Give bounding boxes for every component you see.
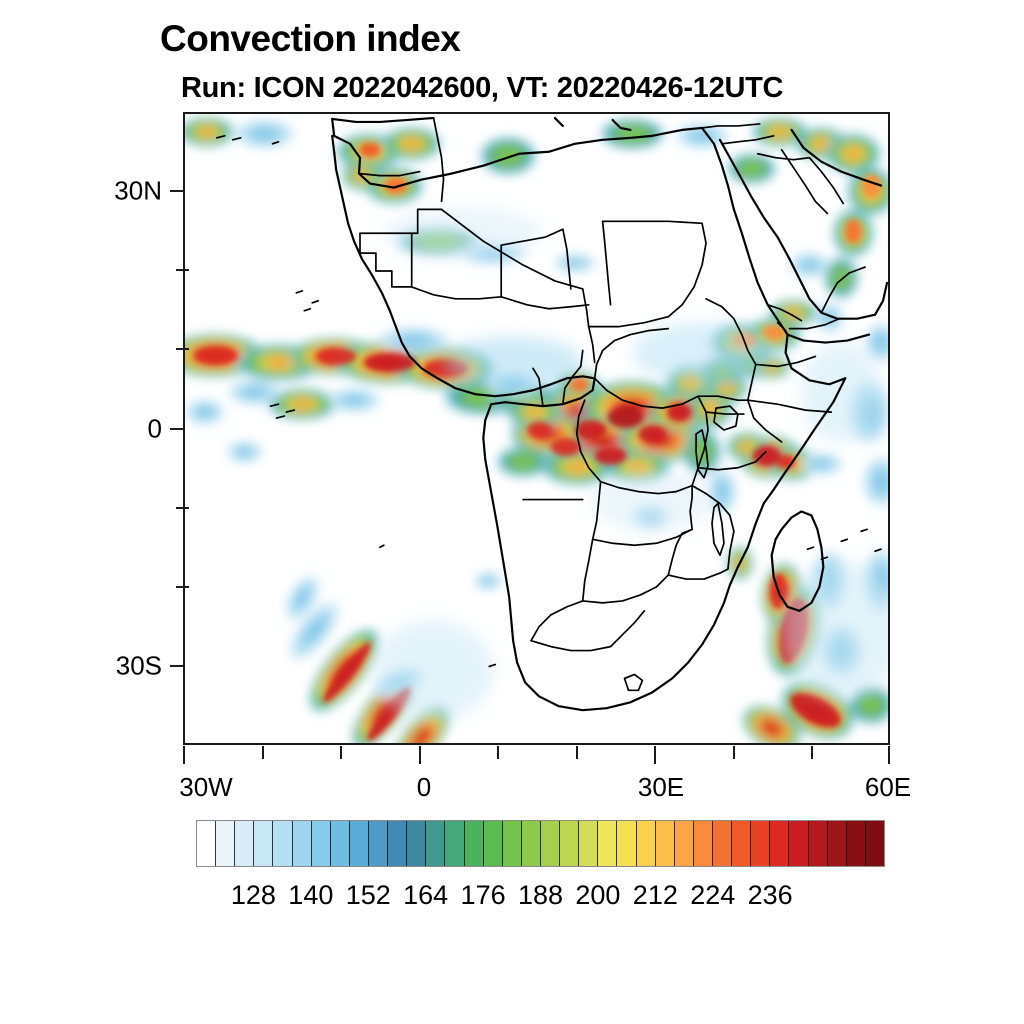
- colorbar-cell: [541, 821, 560, 866]
- colorbar-tick-label: 188: [518, 880, 563, 911]
- colorbar-tick-label: 200: [575, 880, 620, 911]
- colorbar-cell: [388, 821, 407, 866]
- colorbar-cell: [407, 821, 426, 866]
- x-axis-label-30w: 30W: [179, 772, 232, 803]
- x-tick-60e: [888, 746, 890, 764]
- x-tick-20e: [576, 746, 578, 759]
- x-axis-label-30e: 30E: [638, 772, 684, 803]
- x-tick-10e: [497, 746, 499, 759]
- x-tick-30e: [654, 746, 656, 764]
- colorbar[interactable]: [196, 820, 885, 867]
- colorbar-cell: [484, 821, 503, 866]
- y-tick-20n: [176, 269, 189, 271]
- colorbar-cell: [503, 821, 522, 866]
- colorbar-tick-label: 128: [231, 880, 276, 911]
- colorbar-cell: [369, 821, 388, 866]
- page-subtitle: Run: ICON 2022042600, VT: 20220426-12UTC: [181, 72, 783, 105]
- colorbar-cell: [637, 821, 656, 866]
- colorbar-cell: [579, 821, 598, 866]
- y-axis-label-0: 0: [100, 414, 162, 445]
- colorbar-cell: [465, 821, 484, 866]
- x-tick-50e: [811, 746, 813, 759]
- colorbar-cell: [694, 821, 713, 866]
- colorbar-cell: [789, 821, 808, 866]
- x-tick-0: [419, 746, 421, 764]
- colorbar-cell: [350, 821, 369, 866]
- y-tick-20s: [176, 586, 189, 588]
- colorbar-tick-label: 224: [690, 880, 735, 911]
- colorbar-cell: [312, 821, 331, 866]
- colorbar-cell: [197, 821, 216, 866]
- y-tick-30s: [170, 665, 183, 667]
- page-title: Convection index: [160, 18, 460, 60]
- colorbar-cell: [809, 821, 828, 866]
- colorbar-tick-label: 140: [288, 880, 333, 911]
- y-tick-30n: [170, 190, 183, 192]
- x-axis-label-0: 0: [417, 772, 431, 803]
- y-tick-10s: [176, 507, 189, 509]
- colorbar-cell: [445, 821, 464, 866]
- colorbar-tick-label: 176: [461, 880, 506, 911]
- colorbar-cell: [273, 821, 292, 866]
- colorbar-cell: [598, 821, 617, 866]
- colorbar-cell: [617, 821, 636, 866]
- colorbar-cell: [675, 821, 694, 866]
- colorbar-tick-label: 152: [346, 880, 391, 911]
- colorbar-cell: [426, 821, 445, 866]
- convection-index-map: [185, 114, 888, 743]
- colorbar-cell: [828, 821, 847, 866]
- y-tick-0: [170, 428, 183, 430]
- colorbar-cell: [254, 821, 273, 866]
- colorbar-cell: [522, 821, 541, 866]
- colorbar-tick-label: 164: [403, 880, 448, 911]
- colorbar-cell: [732, 821, 751, 866]
- y-axis-label-30s: 30S: [100, 651, 162, 682]
- colorbar-cell: [866, 821, 884, 866]
- colorbar-cell: [770, 821, 789, 866]
- map-plot-area[interactable]: [183, 112, 890, 745]
- colorbar-tick-label: 212: [633, 880, 678, 911]
- x-axis-label-60e: 60E: [865, 772, 911, 803]
- colorbar-cell: [656, 821, 675, 866]
- x-tick-40e: [733, 746, 735, 759]
- x-tick-10w: [340, 746, 342, 759]
- colorbar-tick-label: 236: [748, 880, 793, 911]
- colorbar-cell: [235, 821, 254, 866]
- colorbar-cell: [751, 821, 770, 866]
- colorbar-cell: [331, 821, 350, 866]
- x-tick-20w: [262, 746, 264, 759]
- y-tick-10n: [176, 348, 189, 350]
- x-tick-30w: [183, 746, 185, 764]
- colorbar-cell: [847, 821, 866, 866]
- colorbar-cell: [216, 821, 235, 866]
- colorbar-cell: [293, 821, 312, 866]
- y-axis-label-30n: 30N: [100, 176, 162, 207]
- colorbar-cell: [560, 821, 579, 866]
- colorbar-cell: [713, 821, 732, 866]
